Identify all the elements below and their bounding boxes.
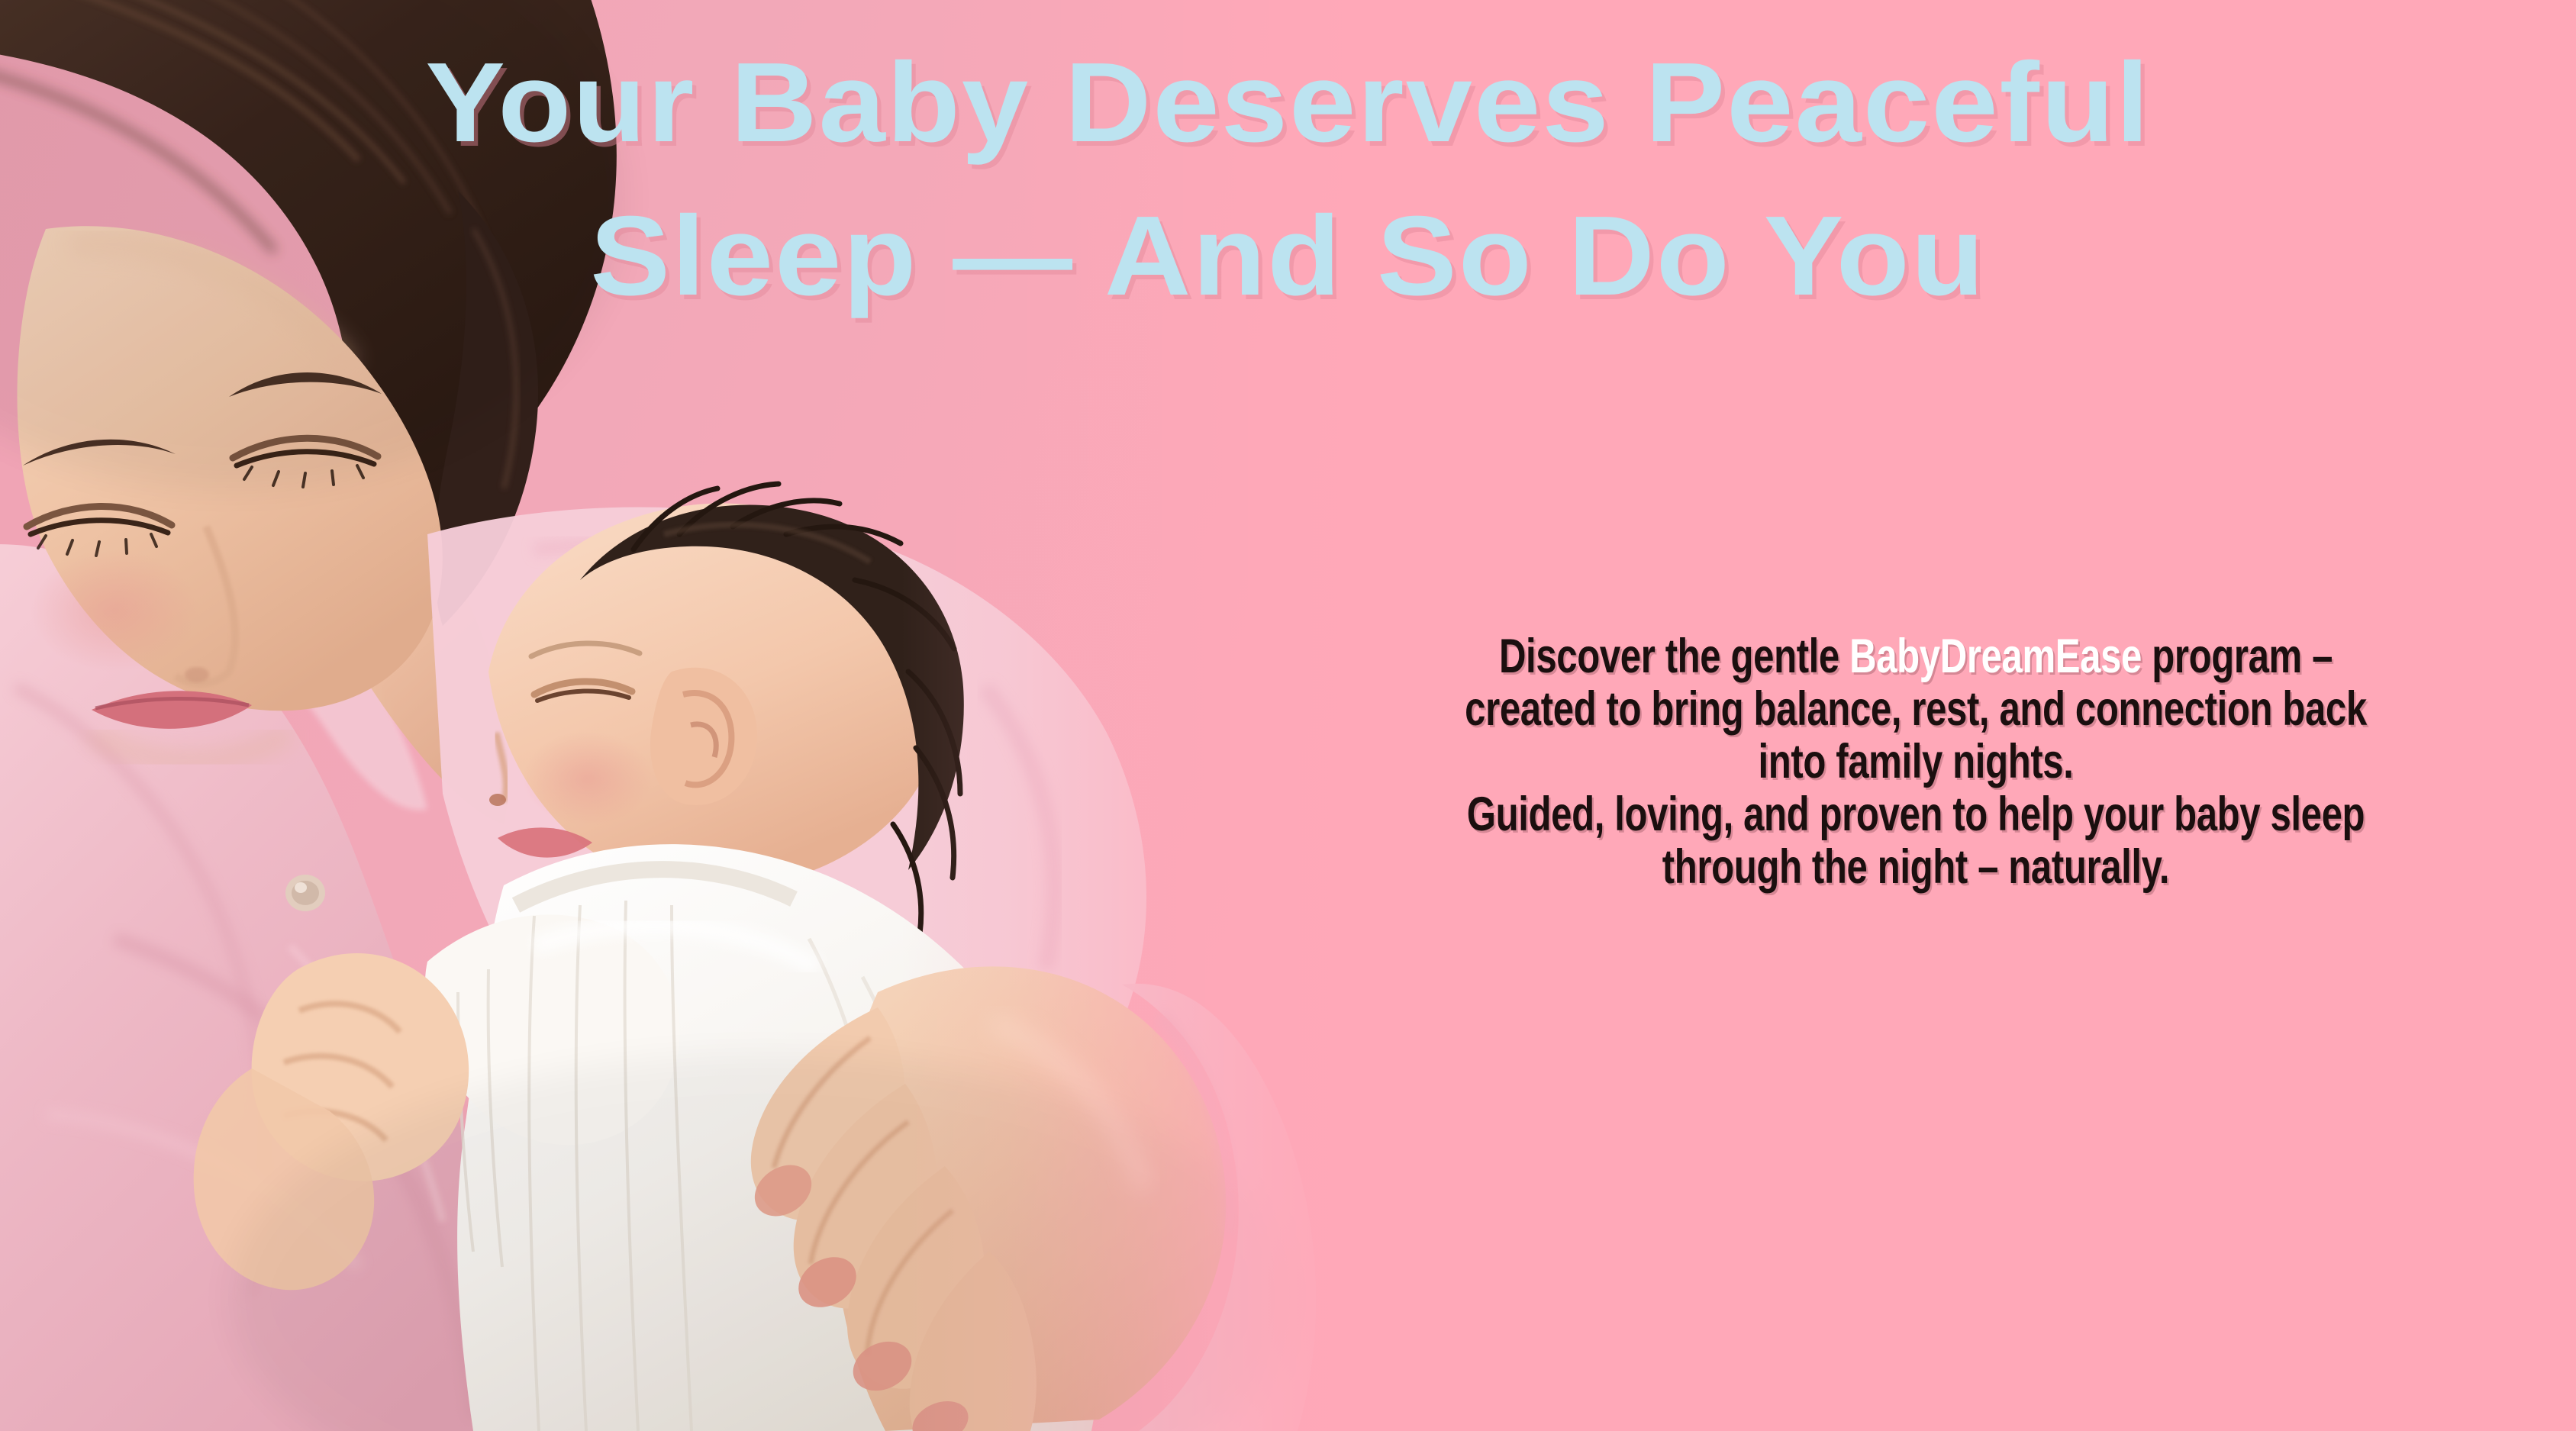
- body-line-1: Discover the gentle BabyDreamEase progra…: [1433, 630, 2398, 683]
- headline-line-1: Your Baby Deserves Peaceful: [0, 26, 2576, 179]
- headline-line-2: Sleep — And So Do You: [0, 179, 2576, 333]
- body-line-4: Guided, loving, and proven to help your …: [1433, 788, 2398, 841]
- body-line-2: created to bring balance, rest, and conn…: [1433, 683, 2398, 736]
- body-copy: Discover the gentle BabyDreamEase progra…: [1298, 630, 2534, 894]
- promo-banner: Your Baby Deserves Peaceful Sleep — And …: [0, 0, 2576, 1431]
- body-line-5: through the night – naturally.: [1433, 841, 2398, 894]
- body-line-1-before: Discover the gentle: [1499, 630, 1849, 683]
- body-line-3: into family nights.: [1433, 736, 2398, 788]
- brand-name: BabyDreamEase: [1849, 630, 2142, 683]
- body-line-1-after: program –: [2142, 630, 2333, 683]
- page-title: Your Baby Deserves Peaceful Sleep — And …: [0, 26, 2576, 334]
